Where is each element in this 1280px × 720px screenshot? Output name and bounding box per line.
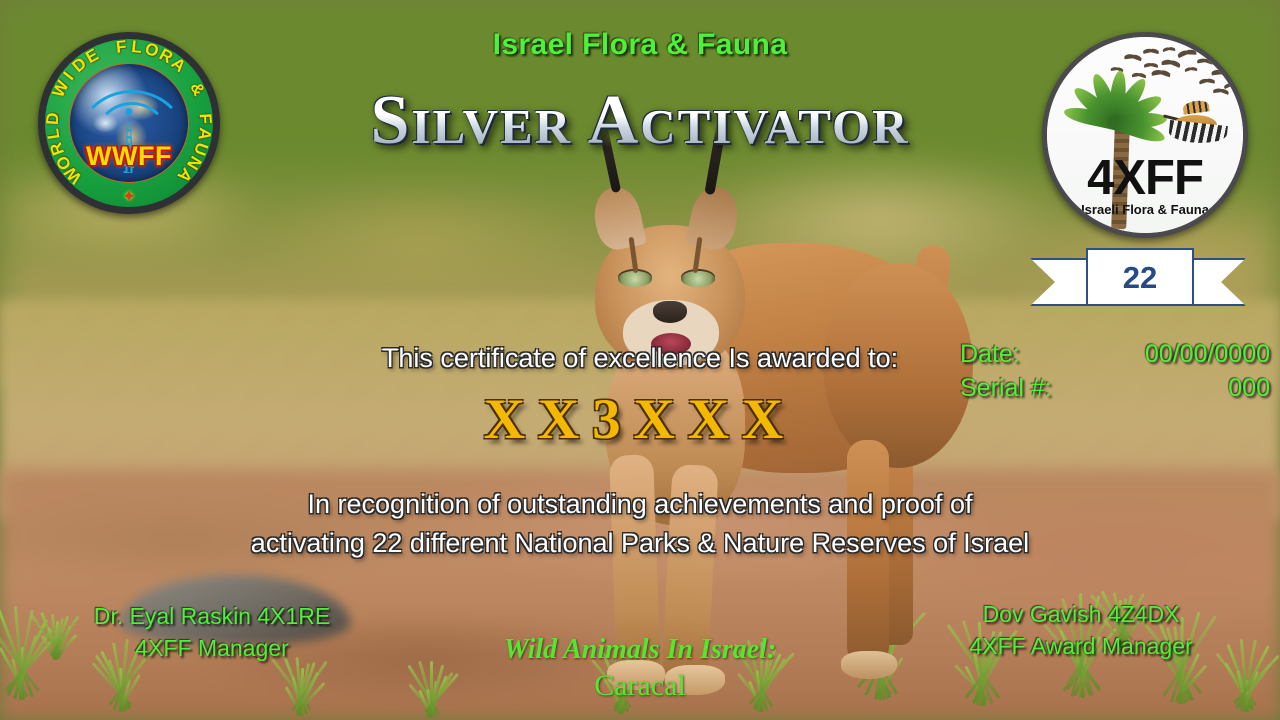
ribbon-badge: 22 <box>1030 248 1246 310</box>
signature-right-name: Dov Gavish 4Z4DX <box>916 598 1246 630</box>
flying-bird-icon <box>1199 79 1215 85</box>
certificate-canvas: WORLDWIDEFLORA&FAUNA ✦ WWFF 4XFF <box>0 0 1280 720</box>
wwff-star-icon: ✦ <box>122 188 136 205</box>
organization-title: Israel Flora & Fauna <box>0 28 1280 62</box>
4xff-subtitle: Israeli Flora & Fauna <box>1047 202 1243 217</box>
ribbon-center-panel: 22 <box>1086 248 1194 306</box>
signature-left-name: Dr. Eyal Raskin 4X1RE <box>52 600 372 632</box>
date-row: Date: 00/00/0000 <box>960 340 1270 369</box>
serial-value: 000 <box>1228 374 1270 403</box>
serial-label: Serial #: <box>960 374 1062 403</box>
award-title: Silver Activator <box>0 86 1280 156</box>
recognition-text: In recognition of outstanding achievemen… <box>0 485 1280 563</box>
serial-row: Serial #: 000 <box>960 374 1270 403</box>
date-value: 00/00/0000 <box>1145 340 1270 369</box>
caracal-eye-left <box>618 271 652 287</box>
caracal-ear-right <box>685 183 743 253</box>
caption-line-2: Caracal <box>0 667 1280 705</box>
certificate-metadata: Date: 00/00/0000 Serial #: 000 <box>960 340 1270 408</box>
recognition-line-2: activating 22 different National Parks &… <box>251 528 1029 558</box>
species-caption: Wild Animals In Israel: Caracal <box>0 632 1280 705</box>
flying-bird-icon <box>1144 63 1158 68</box>
caption-line-1: Wild Animals In Israel: <box>0 632 1280 667</box>
caracal-nose <box>653 301 687 323</box>
caracal-ear-left <box>589 183 647 253</box>
recognition-line-1: In recognition of outstanding achievemen… <box>308 489 973 519</box>
4xff-wordmark: 4XFF <box>1047 154 1243 203</box>
date-label: Date: <box>960 340 1030 369</box>
ribbon-number: 22 <box>1123 262 1157 293</box>
caracal-eye-right <box>681 271 715 287</box>
